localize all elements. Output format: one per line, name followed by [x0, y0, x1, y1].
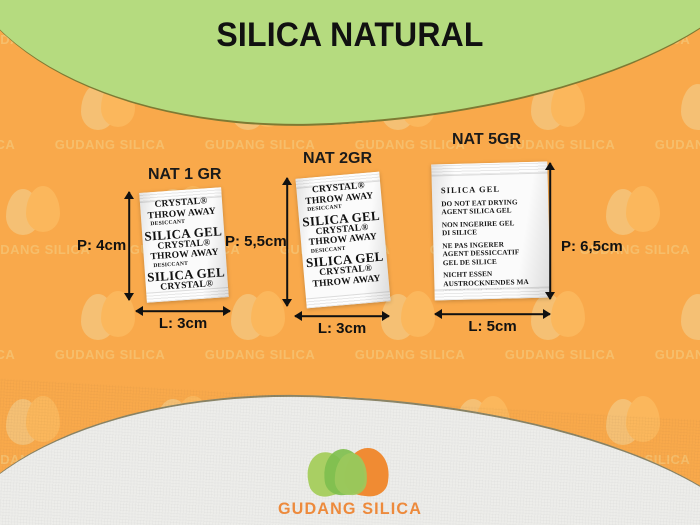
width-label-nat-1gr: L: 3cm: [136, 315, 230, 332]
height-label-nat-2gr: P: 5,5cm: [225, 233, 287, 250]
width-label-nat-2gr: L: 3cm: [295, 320, 389, 337]
brand-name: GUDANG SILICA: [18, 499, 683, 519]
product-label-nat-5gr: NAT 5GR: [452, 131, 521, 149]
gudang-silica-leaf-logo-icon: [307, 448, 393, 496]
dimension-line: [295, 315, 389, 317]
arrow-head-up-icon: [545, 162, 555, 170]
sachet-nat-5gr: SILICA GELDO NOT EAT DRYINGAGENT SILICA …: [431, 162, 551, 301]
dimension-line: [549, 163, 551, 299]
arrow-head-up-icon: [282, 177, 292, 185]
sachet-print-heading: SILICA GEL: [441, 184, 541, 196]
dimension-line: [128, 192, 130, 300]
arrow-head-down-icon: [124, 293, 134, 301]
dimension-line: [136, 310, 230, 312]
sachet-nat-1gr: CRYSTAL®THROW AWAYDESICCANTSILICA GELCRY…: [139, 187, 228, 302]
arrow-head-down-icon: [282, 299, 292, 307]
height-label-nat-1gr: P: 4cm: [77, 237, 126, 254]
height-label-nat-5gr: P: 6,5cm: [561, 238, 623, 255]
page-title: SILICA NATURAL: [21, 16, 679, 55]
dimension-line: [435, 313, 550, 315]
product-label-nat-2gr: NAT 2GR: [303, 150, 372, 168]
product-label-nat-1gr: NAT 1 GR: [148, 166, 221, 184]
arrow-head-up-icon: [124, 191, 134, 199]
width-label-nat-5gr: L: 5cm: [435, 318, 550, 335]
arrow-head-down-icon: [545, 292, 555, 300]
sachet-print-nat-1gr: CRYSTAL®THROW AWAYDESICCANTSILICA GELCRY…: [140, 195, 229, 302]
sachet-print-nat-5gr: SILICA GELDO NOT EAT DRYINGAGENT SILICA …: [441, 184, 544, 297]
sachet-nat-2gr: CRYSTAL®THROW AWAYDESICCANTSILICA GELCRY…: [295, 172, 390, 309]
sachet-print-nat-2gr: CRYSTAL®THROW AWAYDESICCANTSILICA GELCRY…: [296, 180, 389, 292]
sachet-crimp-top: [431, 162, 547, 177]
footer-logo: GUDANG SILICA: [0, 448, 700, 519]
poster-canvas: GUDANG SILICAGUDANG SILICAGUDANG SILICAG…: [0, 0, 700, 525]
